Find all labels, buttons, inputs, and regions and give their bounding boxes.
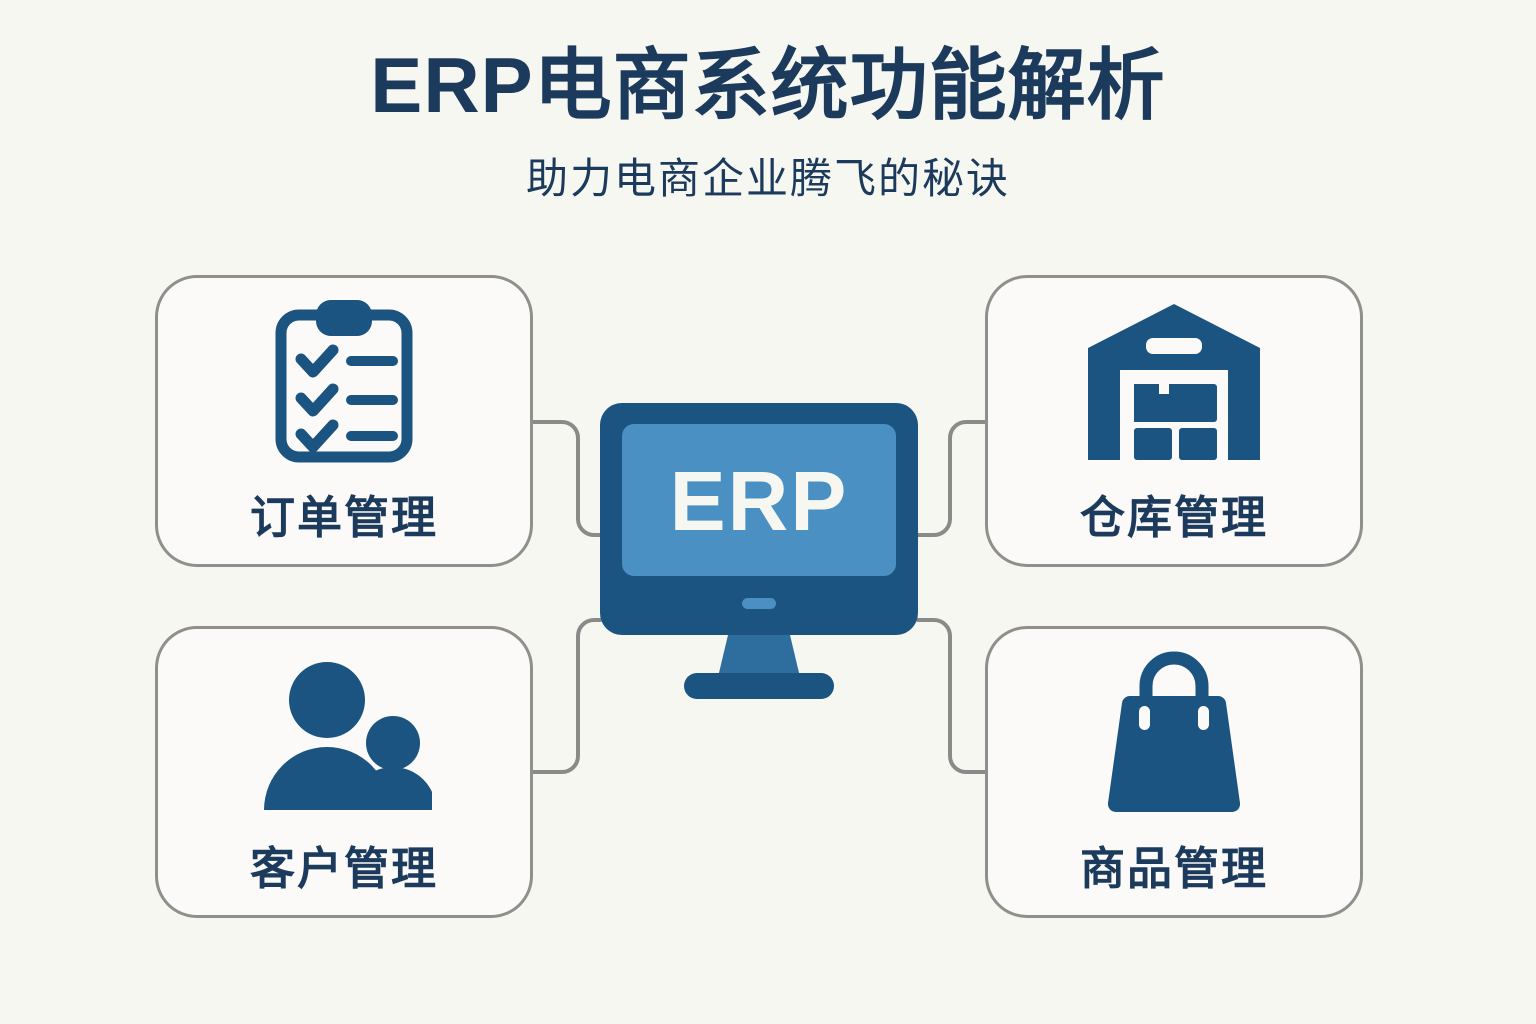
- monitor-erp-label: ERP: [670, 454, 849, 548]
- card-warehouse-management-label: 仓库管理: [1080, 481, 1268, 546]
- card-customer-management[interactable]: 客户管理: [155, 626, 533, 918]
- monitor-stand-neck: [718, 635, 800, 677]
- center-erp-monitor[interactable]: ERP: [600, 403, 918, 701]
- clipboard-checklist-icon: [269, 297, 419, 467]
- monitor-power-light: [742, 598, 776, 609]
- shopping-bag-icon: [1094, 648, 1254, 818]
- card-order-management[interactable]: 订单管理: [155, 275, 533, 567]
- card-order-management-label: 订单管理: [250, 481, 438, 546]
- infographic-canvas: ERP电商系统功能解析 助力电商企业腾飞的秘诀: [0, 0, 1536, 1024]
- two-people-icon: [256, 648, 432, 818]
- header: ERP电商系统功能解析 助力电商企业腾飞的秘诀: [0, 44, 1536, 206]
- connector-center-to-warehouse: [918, 422, 985, 535]
- connector-customer-to-center: [533, 620, 600, 772]
- connector-center-to-product: [918, 620, 985, 772]
- page-subtitle: 助力电商企业腾飞的秘诀: [0, 145, 1536, 206]
- warehouse-icon: [1086, 297, 1262, 467]
- page-title: ERP电商系统功能解析: [0, 44, 1536, 127]
- monitor-stand-base: [684, 673, 834, 699]
- connector-order-to-center: [533, 422, 600, 535]
- card-customer-management-label: 客户管理: [250, 832, 438, 897]
- card-product-management-label: 商品管理: [1080, 832, 1268, 897]
- card-product-management[interactable]: 商品管理: [985, 626, 1363, 918]
- card-warehouse-management[interactable]: 仓库管理: [985, 275, 1363, 567]
